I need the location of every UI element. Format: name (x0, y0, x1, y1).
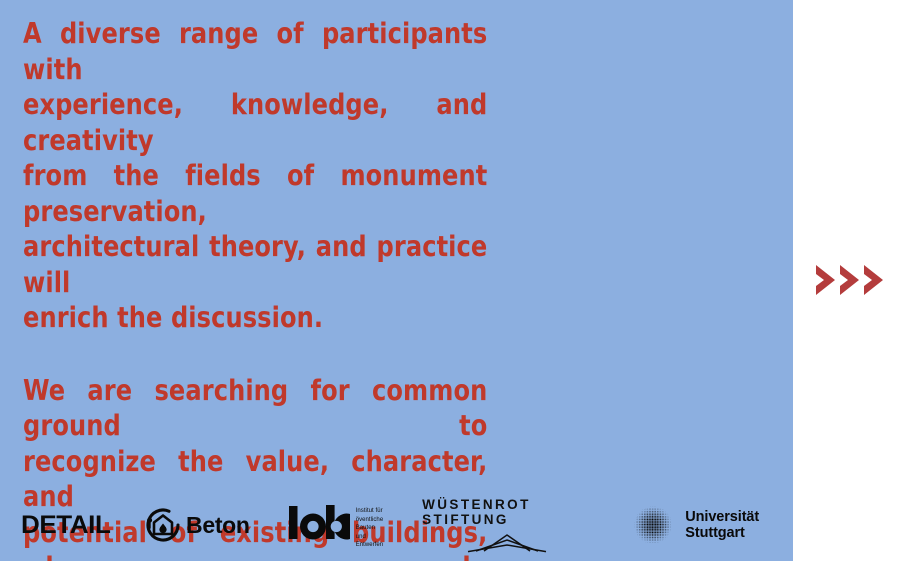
iob-subtitle: Institut für öventliche Bauten und Entwe… (356, 507, 386, 550)
wuestenrot-wordmark: WÜSTENROT STIFTUNG (422, 497, 592, 527)
logo-wuestenrot-stiftung: WÜSTENROT STIFTUNG (422, 497, 592, 553)
content-panel: A diverse range of participants with exp… (0, 0, 793, 561)
logo-detail: DETAIL (21, 511, 110, 540)
paragraph-line: experience, knowledge, and creativity (23, 87, 487, 158)
right-rail (793, 0, 900, 561)
partner-logo-bar: DETAIL Beton (0, 489, 793, 561)
chevron-right-icon (838, 264, 862, 296)
slide: A diverse range of participants with exp… (0, 0, 900, 561)
paragraph-line: from the fields of monument preservation… (23, 158, 487, 229)
paragraph-line: architectural theory, and practice will (23, 229, 487, 300)
stuttgart-dot-circle-icon (632, 504, 674, 546)
paragraph-line: We are searching for common ground to (23, 373, 487, 444)
chevron-right-icon (862, 264, 886, 296)
beton-house-in-circle-icon (145, 507, 181, 543)
triple-chevron-right-icon[interactable] (814, 264, 886, 296)
paragraph-line: A diverse range of participants with (23, 16, 487, 87)
beton-wordmark: Beton (186, 512, 250, 539)
logo-beton: Beton (145, 507, 250, 543)
logo-universitaet-stuttgart: Universität Stuttgart (632, 504, 793, 546)
universitaet-stuttgart-wordmark: Universität Stuttgart (685, 509, 793, 541)
iob-wordmark-icon (288, 500, 350, 544)
wuestenrot-chevron-roof-icon (454, 527, 560, 553)
statement-text-block: A diverse range of participants with exp… (23, 16, 487, 561)
detail-wordmark: DETAIL (21, 511, 110, 540)
statement-paragraph-1: A diverse range of participants with exp… (23, 16, 487, 336)
paragraph-line: enrich the discussion. (23, 300, 487, 336)
logo-iob: Institut für öventliche Bauten und Entwe… (288, 500, 386, 550)
chevron-right-icon (814, 264, 838, 296)
